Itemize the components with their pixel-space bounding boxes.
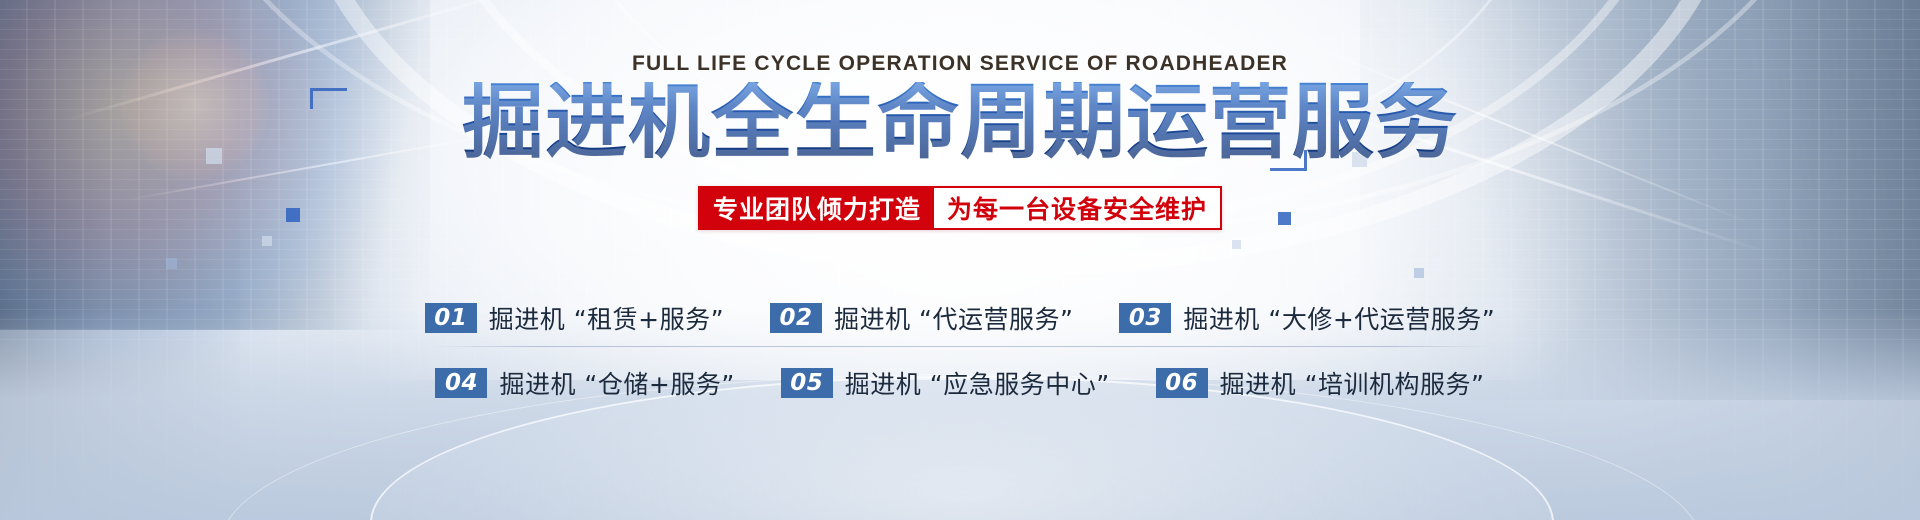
service-label: 掘进机 “应急服务中心” [845,365,1110,401]
banner-content: FULL LIFE CYCLE OPERATION SERVICE OF ROA… [0,0,1920,520]
service-number-badge: 03 [1119,303,1171,333]
banner-eyebrow-english: FULL LIFE CYCLE OPERATION SERVICE OF ROA… [632,52,1288,76]
banner-headline: 掘进机全生命周期运营服务 [462,82,1458,164]
service-list: 01 掘进机 “租赁+服务” 02 掘进机 “代运营服务” 03 掘进机 “大修… [0,294,1920,407]
service-item-05[interactable]: 05 掘进机 “应急服务中心” [781,365,1110,401]
service-label: 掘进机 “租赁+服务” [489,300,724,336]
service-row-divider [430,346,1490,347]
service-item-01[interactable]: 01 掘进机 “租赁+服务” [425,300,724,336]
service-number-badge: 04 [435,368,487,398]
slogan-bar: 专业团队倾力打造 为每一台设备安全维护 [698,186,1222,230]
service-number-badge: 05 [781,368,833,398]
service-row-1: 01 掘进机 “租赁+服务” 02 掘进机 “代运营服务” 03 掘进机 “大修… [425,294,1495,342]
slogan-left-text: 专业团队倾力打造 [700,188,934,228]
service-label: 掘进机 “仓储+服务” [499,365,734,401]
service-label: 掘进机 “大修+代运营服务” [1183,300,1495,336]
service-number-badge: 06 [1156,368,1208,398]
service-item-04[interactable]: 04 掘进机 “仓储+服务” [435,365,734,401]
service-item-06[interactable]: 06 掘进机 “培训机构服务” [1156,365,1485,401]
service-item-03[interactable]: 03 掘进机 “大修+代运营服务” [1119,300,1495,336]
service-row-2: 04 掘进机 “仓储+服务” 05 掘进机 “应急服务中心” 06 掘进机 “培… [435,359,1484,407]
service-item-02[interactable]: 02 掘进机 “代运营服务” [770,300,1073,336]
slogan-right-text: 为每一台设备安全维护 [934,188,1220,228]
service-label: 掘进机 “代运营服务” [834,300,1073,336]
service-label: 掘进机 “培训机构服务” [1220,365,1485,401]
service-number-badge: 02 [770,303,822,333]
roadheader-service-banner: FULL LIFE CYCLE OPERATION SERVICE OF ROA… [0,0,1920,520]
service-number-badge: 01 [425,303,477,333]
